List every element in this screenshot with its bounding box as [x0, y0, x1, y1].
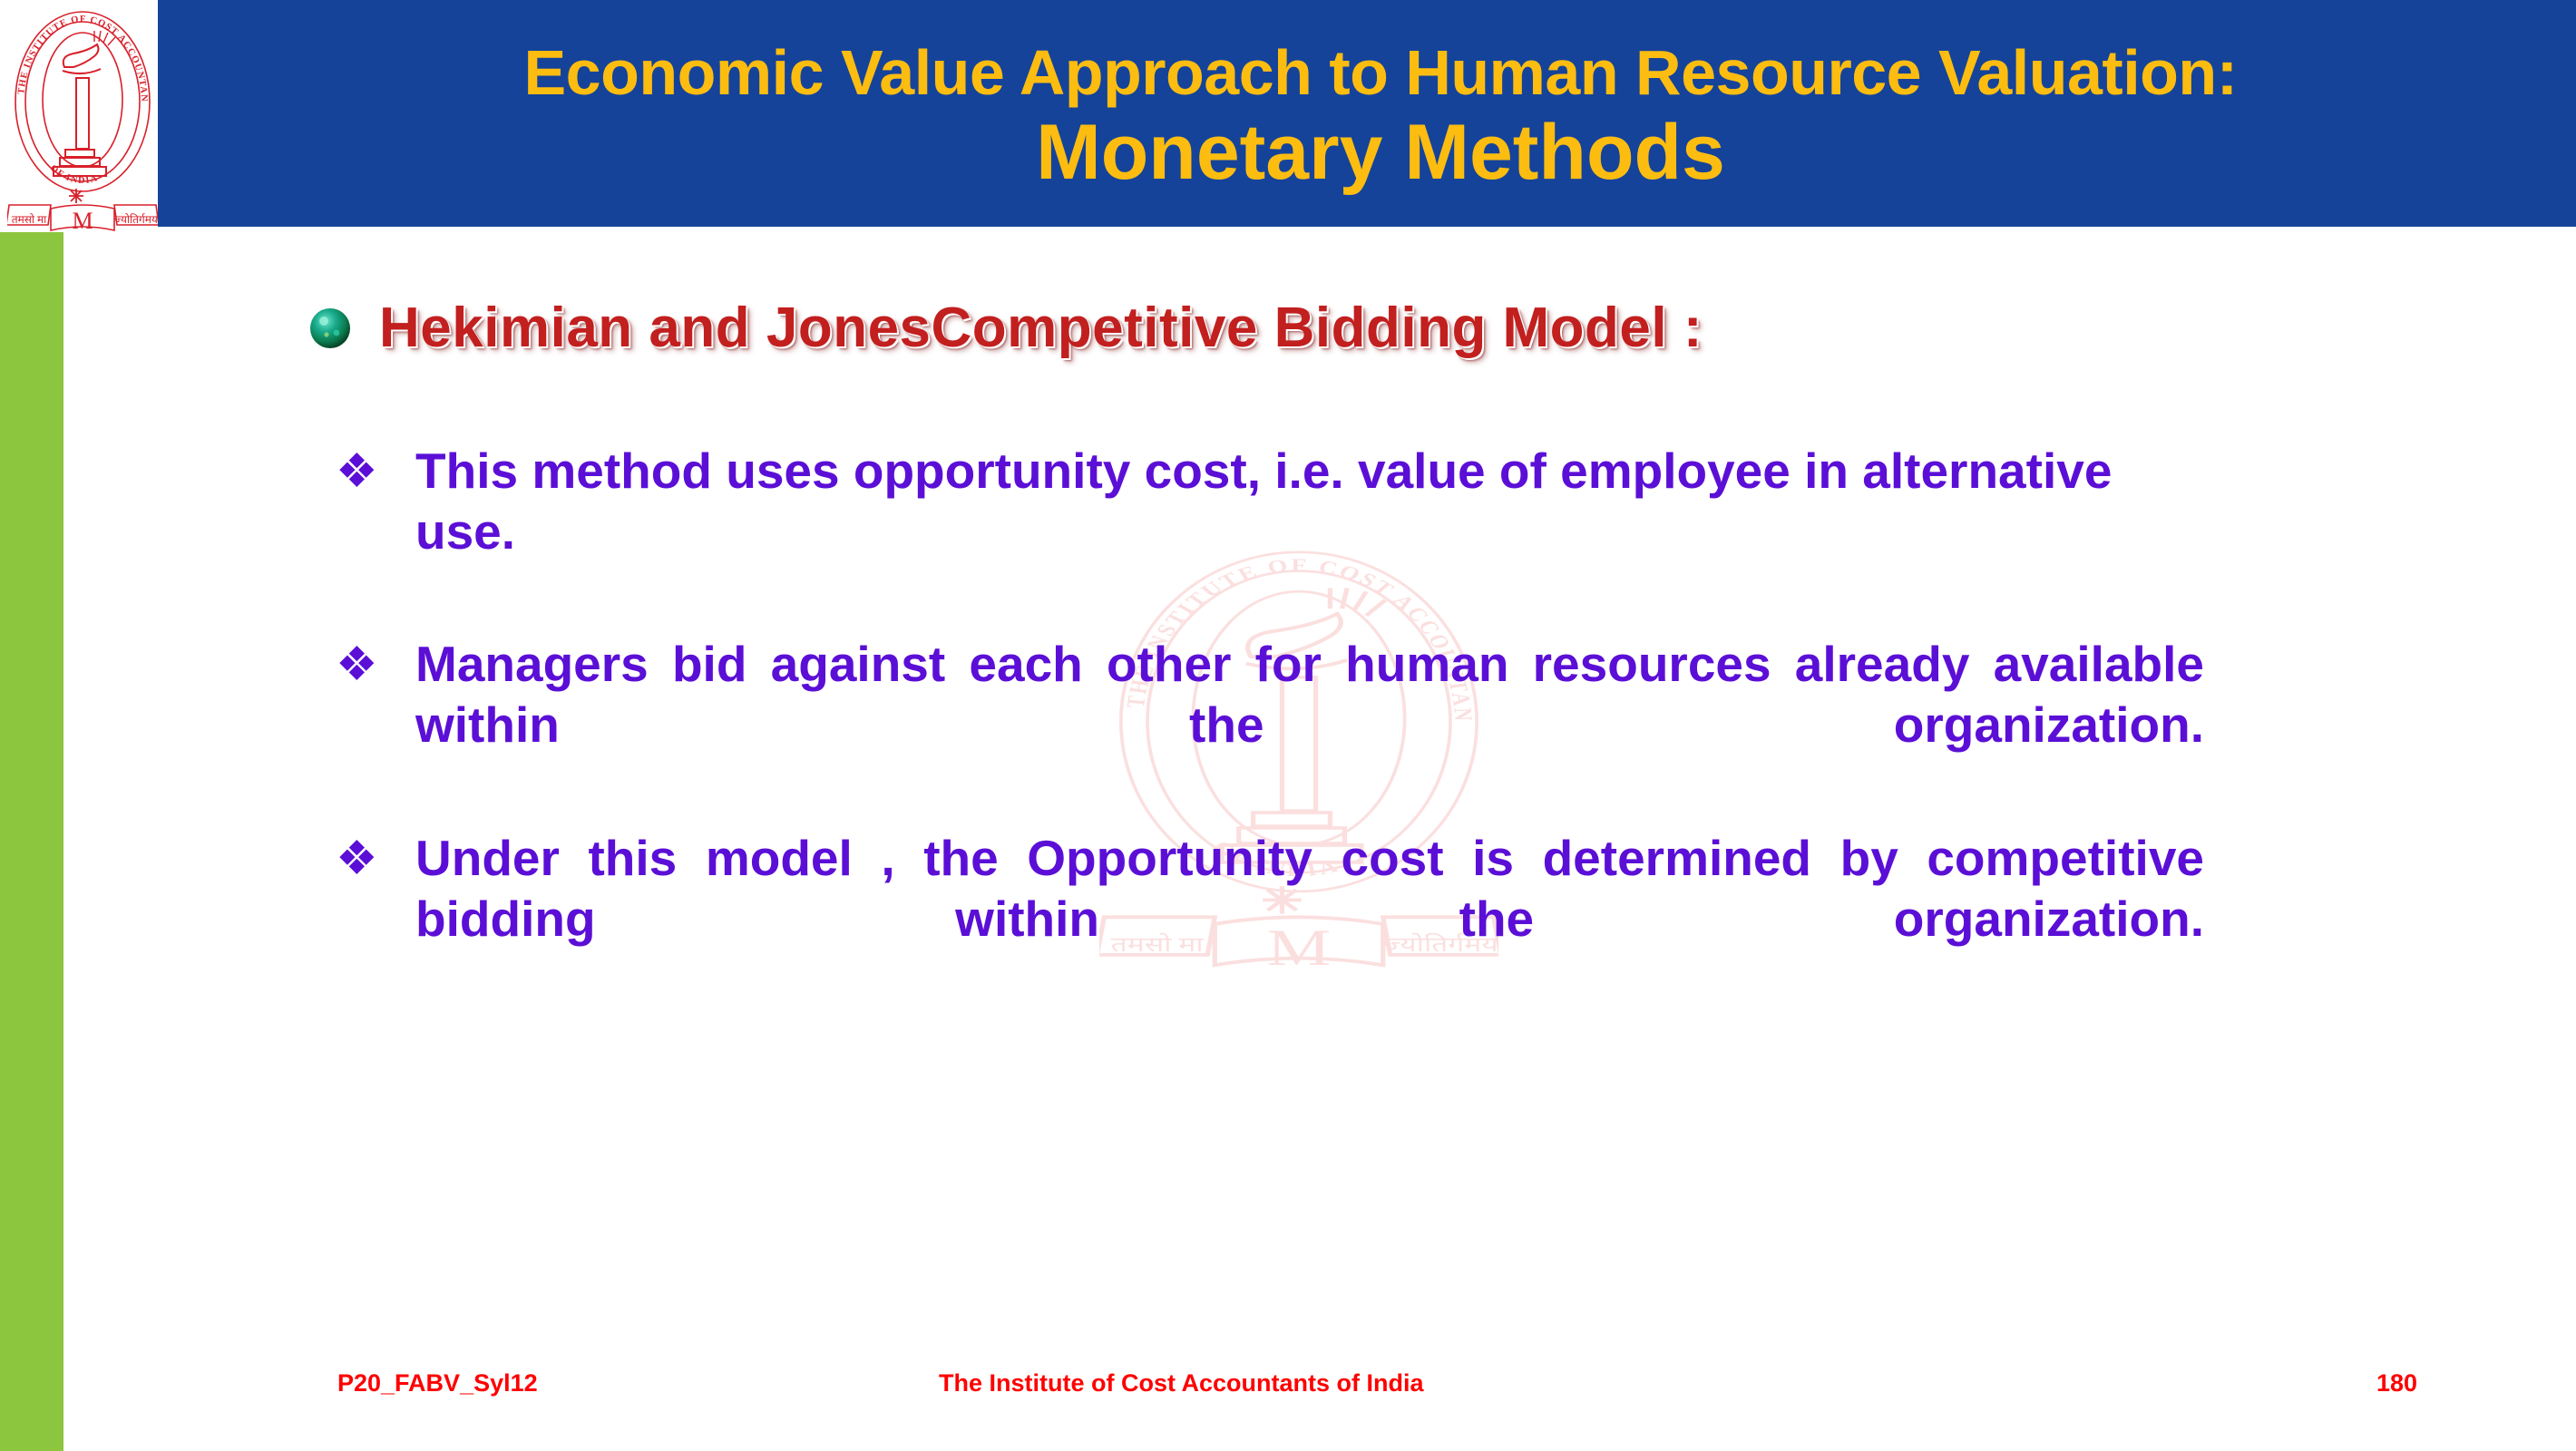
- institute-logo-svg: THE INSTITUTE OF COST ACCOUNTANTS OF IND…: [7, 2, 158, 232]
- slide-title-line-1: Economic Value Approach to Human Resourc…: [496, 41, 2237, 105]
- green-sphere-bullet-icon: [308, 307, 352, 350]
- list-item: ❖ Managers bid against each other for hu…: [308, 634, 2204, 816]
- list-item-text: Managers bid against each other for huma…: [415, 634, 2204, 816]
- slide-title-line-2: Monetary Methods: [1009, 112, 1725, 193]
- header-title-block: Economic Value Approach to Human Resourc…: [158, 0, 2576, 234]
- slide-content: Hekimian and JonesCompetitive Bidding Mo…: [0, 232, 2576, 1348]
- slide-footer: P20_FABV_Syl12 The Institute of Cost Acc…: [0, 1360, 2576, 1415]
- left-green-strip: [0, 232, 63, 1451]
- diamond-bullet-icon: ❖: [336, 641, 378, 688]
- diamond-bullet-icon: ❖: [336, 448, 378, 495]
- footer-institute-name: The Institute of Cost Accountants of Ind…: [939, 1369, 1424, 1397]
- footer-subject-code: P20_FABV_Syl12: [337, 1369, 538, 1397]
- svg-text:M: M: [72, 208, 93, 232]
- slide: Economic Value Approach to Human Resourc…: [0, 0, 2576, 1451]
- section-heading-text: Hekimian and JonesCompetitive Bidding Mo…: [379, 296, 1703, 360]
- diamond-bullet-icon: ❖: [336, 835, 378, 882]
- list-item: ❖ Under this model , the Opportunity cos…: [308, 828, 2204, 1010]
- footer-page-number: 180: [2376, 1369, 2417, 1397]
- list-item: ❖ This method uses opportunity cost, i.e…: [308, 441, 2204, 623]
- institute-logo: THE INSTITUTE OF COST ACCOUNTANTS OF IND…: [7, 2, 158, 232]
- list-item-text: This method uses opportunity cost, i.e. …: [415, 441, 2204, 623]
- list-item-text: Under this model , the Opportunity cost …: [415, 828, 2204, 1010]
- svg-text:तमसो मा: तमसो मा: [12, 213, 47, 226]
- svg-text:ज्योतिर्गमय: ज्योतिर्गमय: [114, 213, 158, 226]
- section-heading: Hekimian and JonesCompetitive Bidding Mo…: [308, 296, 1703, 360]
- bullet-list: ❖ This method uses opportunity cost, i.e…: [308, 441, 2204, 1021]
